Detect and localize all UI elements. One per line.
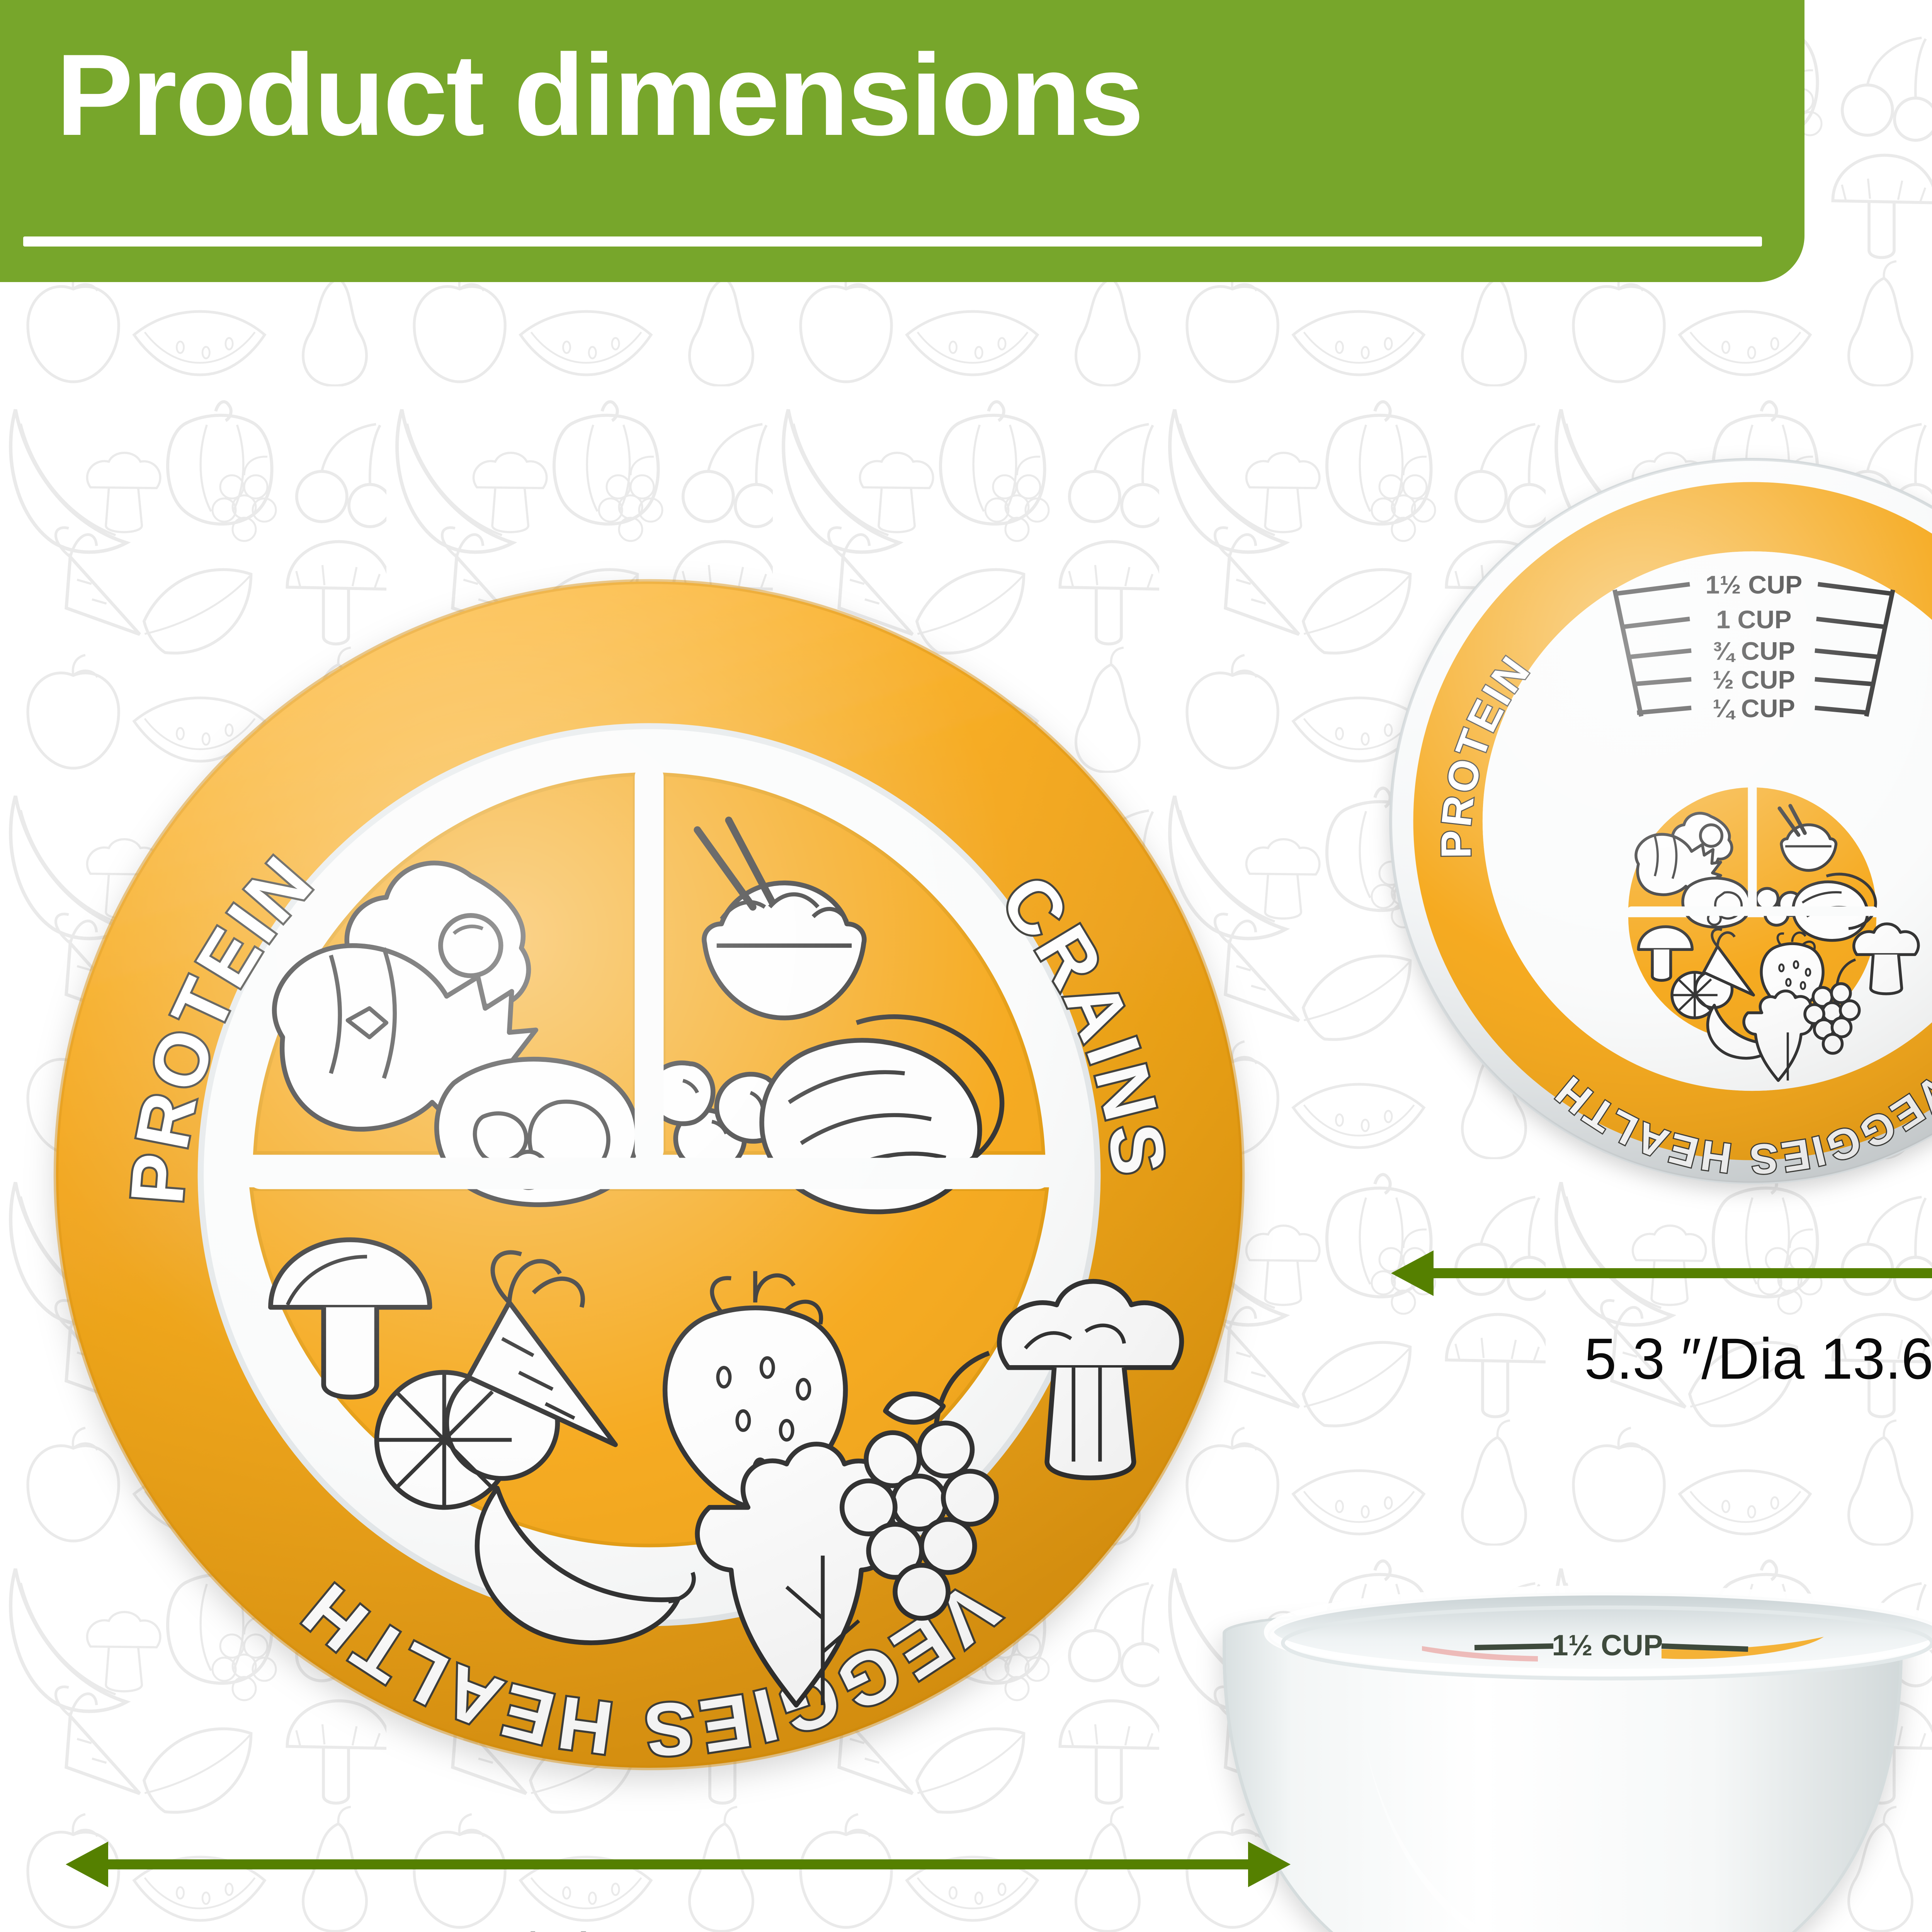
bowl-dimension-label: 5.3 ″/Dia 13.6 — [1584, 1325, 1932, 1392]
bowl-width-dimension-arrow — [1391, 1248, 1932, 1298]
plate-dimension-label: 8.9 ″/Dia 23.1*H 1.9cm — [402, 1920, 990, 1932]
bowl-top-view-image: PROTEIN CRAINS VEGGIES HEALTH — [1376, 444, 1932, 1198]
divided-plate-image: PROTEIN CRAINS VEGGIES HEALTH — [46, 572, 1252, 1777]
bowl-food-icon-steak — [1683, 878, 1750, 927]
header-underline-rule — [23, 236, 1762, 247]
bowl-measurement-labels: 1½ CUP 1 CUP ¾ CUP ½ CUP ¼ CUP — [1706, 571, 1803, 723]
measurement-label-1-cup: 1 CUP — [1716, 605, 1791, 634]
measurement-label-quarter-cup: ¼ CUP — [1713, 694, 1795, 723]
plate-width-dimension-arrow — [66, 1839, 1291, 1889]
measurement-label-three-quarter-cup: ¾ CUP — [1713, 637, 1795, 666]
bowl-side-cup-label: 1½ CUP — [1552, 1629, 1663, 1662]
bowl-side-view-image: 1½ CUP — [1229, 1592, 1932, 1932]
measurement-label-1-5-cup: 1½ CUP — [1706, 571, 1803, 599]
header-banner: Product dimensions — [0, 0, 1804, 282]
page-title: Product dimensions — [56, 37, 1143, 153]
measurement-label-half-cup: ½ CUP — [1713, 666, 1795, 694]
